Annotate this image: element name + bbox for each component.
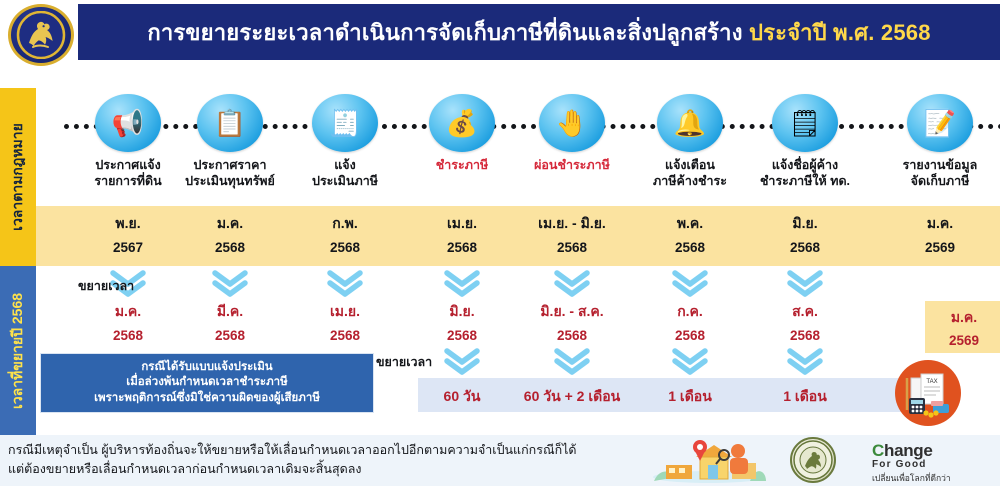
statutory-date-6: พ.ค.2568 — [630, 213, 750, 255]
timeline-step-label-line1: รายงานข้อมูล — [885, 158, 995, 174]
statutory-date-month: ม.ค. — [170, 213, 290, 235]
department-of-local-administration-seal — [790, 437, 836, 483]
extension-date-year: 2568 — [170, 328, 290, 343]
statutory-date-year: 2569 — [880, 240, 1000, 255]
extension-chevron-down-icon-7 — [786, 270, 824, 298]
extension-chevron-down-icon-4 — [443, 270, 481, 298]
tax-list-icon: 🗒 — [772, 94, 838, 152]
final-report-year: 2569 — [949, 333, 979, 348]
footer-note-bar: กรณีมีเหตุจำเป็น ผู้บริหารท้องถิ่นจะให้ข… — [0, 435, 1000, 486]
timeline-row: 📢ประกาศแจ้งรายการที่ดิน📋ประกาศราคาประเมิ… — [36, 88, 1000, 206]
timeline-step-8: 📝รายงานข้อมูลจัดเก็บภาษี — [885, 94, 995, 189]
timeline-step-label-line2: ภาษีค้างชำระ — [635, 174, 745, 190]
statutory-date-8: ม.ค.2569 — [880, 213, 1000, 255]
info-line-3: เพราะพฤติการณ์ซึ่งมิใช่ความผิดของผู้เสีย… — [94, 391, 320, 407]
extension-date-year: 2568 — [285, 328, 405, 343]
timeline-step-label: แจ้งชื่อผู้ค้างชำระภาษีให้ ทด. — [750, 158, 860, 189]
extension-date-month: ก.ค. — [630, 301, 750, 323]
statutory-date-3: ก.พ.2568 — [285, 213, 405, 255]
timeline-step-label-line2: ประเมินภาษี — [290, 174, 400, 190]
report-checklist-icon: 📝 — [907, 94, 973, 152]
statutory-date-month: เม.ย. - มิ.ย. — [512, 213, 632, 235]
thai-government-emblem — [8, 4, 74, 66]
duration-chevron-down-icon-5 — [553, 348, 591, 376]
statutory-date-year: 2568 — [512, 240, 632, 255]
statutory-date-year: 2568 — [745, 240, 865, 255]
footer-note-line-2: แต่ต้องขยายหรือเลื่อนกำหนดเวลาก่อนกำหนดเ… — [8, 460, 648, 479]
sidebar-label-normal-text: เวลาตามกฎหมาย — [7, 123, 29, 231]
page-title-main: การขยายระยะเวลาดำเนินการจัดเก็บภาษีที่ดิ… — [147, 20, 742, 45]
timeline-step-label-line2: รายการที่ดิน — [73, 174, 183, 190]
statutory-date-month: เม.ย. — [402, 213, 522, 235]
timeline-step-6: 🔔แจ้งเตือนภาษีค้างชำระ — [635, 94, 745, 189]
footer-note-line-1: กรณีมีเหตุจำเป็น ผู้บริหารท้องถิ่นจะให้ข… — [8, 441, 648, 460]
money-bag-hand-icon: 💰 — [429, 94, 495, 152]
info-line-2: เมื่อล่วงพ้นกำหนดเวลาชำระภาษี — [126, 375, 287, 391]
timeline-step-label-line2: ประเมินทุนทรัพย์ — [175, 174, 285, 190]
tax-documents-calculator-icon: TAX — [895, 360, 961, 426]
duration-chevron-down-icon-6 — [671, 348, 709, 376]
timeline-step-7: 🗒แจ้งชื่อผู้ค้างชำระภาษีให้ ทด. — [750, 94, 860, 189]
statutory-date-month: พ.ค. — [630, 213, 750, 235]
extension-date-2: มี.ค.2568 — [170, 301, 290, 343]
extension-chevron-down-icon-6 — [671, 270, 709, 298]
statutory-date-4: เม.ย.2568 — [402, 213, 522, 255]
page-title: การขยายระยะเวลาดำเนินการจัดเก็บภาษีที่ดิ… — [147, 15, 930, 50]
info-line-1: กรณีได้รับแบบแจ้งประเมิน — [141, 360, 272, 376]
statutory-date-month: มิ.ย. — [745, 213, 865, 235]
statutory-date-year: 2568 — [630, 240, 750, 255]
sidebar-label-extended-text: เวลาที่ขยายปี 2568 — [7, 292, 29, 408]
assessment-exception-info-box: กรณีได้รับแบบแจ้งประเมิน เมื่อล่วงพ้นกำห… — [40, 353, 374, 413]
timeline-step-label-line1: แจ้งชื่อผู้ค้าง — [750, 158, 860, 174]
timeline-step-1: 📢ประกาศแจ้งรายการที่ดิน — [73, 94, 183, 189]
house-search-illustration — [650, 437, 770, 484]
final-report-month: ม.ค. — [951, 307, 977, 329]
extension-date-year: 2568 — [630, 328, 750, 343]
duration-value-7: 1 เดือน — [735, 386, 875, 408]
timeline-step-5: 🤚ผ่อนชำระภาษี — [517, 94, 627, 174]
statutory-date-2: ม.ค.2568 — [170, 213, 290, 255]
brand-word-sub: For Good — [872, 459, 996, 470]
extension-date-6: ก.ค.2568 — [630, 301, 750, 343]
statutory-date-year: 2568 — [285, 240, 405, 255]
sidebar-label-extended-timeline: เวลาที่ขยายปี 2568 — [0, 266, 36, 435]
brand-word-rest: hange — [884, 441, 933, 460]
statutory-date-year: 2568 — [170, 240, 290, 255]
duration-chevron-down-icon-4 — [443, 348, 481, 376]
statutory-date-year: 2568 — [402, 240, 522, 255]
statutory-date-5: เม.ย. - มิ.ย.2568 — [512, 213, 632, 255]
timeline-step-label-line1: แจ้งเตือน — [635, 158, 745, 174]
timeline-step-label: ประกาศราคาประเมินทุนทรัพย์ — [175, 158, 285, 189]
extension-note-label-4: ขยายเวลา — [376, 352, 432, 372]
sidebar-label-normal-timeline: เวลาตามกฎหมาย — [0, 88, 36, 266]
timeline-step-label: แจ้งประเมินภาษี — [290, 158, 400, 189]
footer-note: กรณีมีเหตุจำเป็น ผู้บริหารท้องถิ่นจะให้ข… — [8, 441, 648, 480]
extension-date-month: มิ.ย. - ส.ค. — [512, 301, 632, 323]
extension-date-7: ส.ค.2568 — [745, 301, 865, 343]
extension-chevron-down-icon-2 — [211, 270, 249, 298]
extension-date-month: มี.ค. — [170, 301, 290, 323]
timeline-step-3: 🧾แจ้งประเมินภาษี — [290, 94, 400, 189]
megaphone-icon: 📢 — [95, 94, 161, 152]
extension-date-3: เม.ย.2568 — [285, 301, 405, 343]
brand-word-main: Change — [872, 442, 996, 459]
extension-chevron-down-icon-3 — [326, 270, 364, 298]
extension-date-month: มิ.ย. — [402, 301, 522, 323]
clipboard-person-icon: 📋 — [197, 94, 263, 152]
extension-date-5: มิ.ย. - ส.ค.2568 — [512, 301, 632, 343]
timeline-step-label-line1: ชำระภาษี — [407, 158, 517, 174]
extension-note-label-1: ขยายเวลา — [78, 276, 134, 296]
brand-initial: C — [872, 441, 884, 460]
timeline-step-2: 📋ประกาศราคาประเมินทุนทรัพย์ — [175, 94, 285, 189]
statutory-date-month: ม.ค. — [880, 213, 1000, 235]
timeline-step-label-line2: ชำระภาษีให้ ทด. — [750, 174, 860, 190]
extension-date-month: เม.ย. — [285, 301, 405, 323]
statutory-date-band: พ.ย.2567ม.ค.2568ก.พ.2568เม.ย.2568เม.ย. -… — [36, 206, 1000, 266]
timeline-step-label-line1: ผ่อนชำระภาษี — [517, 158, 627, 174]
final-report-date-box: ม.ค. 2569 — [925, 301, 1000, 353]
infographic-root: การขยายระยะเวลาดำเนินการจัดเก็บภาษีที่ดิ… — [0, 0, 1000, 486]
duration-chevron-down-icon-7 — [786, 348, 824, 376]
extension-date-year: 2568 — [512, 328, 632, 343]
timeline-step-label: ชำระภาษี — [407, 158, 517, 174]
timeline-step-label: รายงานข้อมูลจัดเก็บภาษี — [885, 158, 995, 189]
extension-date-4: มิ.ย.2568 — [402, 301, 522, 343]
extension-section: ม.ค.2568มี.ค.2568เม.ย.2568มิ.ย.2568มิ.ย.… — [36, 266, 1000, 435]
extension-date-month: ส.ค. — [745, 301, 865, 323]
statutory-date-month: ก.พ. — [285, 213, 405, 235]
coin-hand-icon: 🤚 — [539, 94, 605, 152]
extension-chevron-down-icon-5 — [553, 270, 591, 298]
extension-date-year: 2568 — [745, 328, 865, 343]
brand-tagline: เปลี่ยนเพื่อโลกที่ดีกว่า — [872, 471, 996, 485]
timeline-step-label: ผ่อนชำระภาษี — [517, 158, 627, 174]
tax-assessment-icon: 🧾 — [312, 94, 378, 152]
timeline-step-label: ประกาศแจ้งรายการที่ดิน — [73, 158, 183, 189]
page-title-highlight: ประจำปี พ.ศ. 2568 — [749, 20, 931, 45]
timeline-step-label-line1: แจ้ง — [290, 158, 400, 174]
timeline-step-label-line2: จัดเก็บภาษี — [885, 174, 995, 190]
timeline-step-label: แจ้งเตือนภาษีค้างชำระ — [635, 158, 745, 189]
timeline-step-label-line1: ประกาศแจ้ง — [73, 158, 183, 174]
timeline-step-label-line1: ประกาศราคา — [175, 158, 285, 174]
header-bar: การขยายระยะเวลาดำเนินการจัดเก็บภาษีที่ดิ… — [78, 4, 1000, 60]
timeline-step-4: 💰ชำระภาษี — [407, 94, 517, 174]
change-for-good-logo: Change For Good เปลี่ยนเพื่อโลกที่ดีกว่า — [872, 442, 996, 485]
extension-date-year: 2568 — [402, 328, 522, 343]
bell-alert-icon: 🔔 — [657, 94, 723, 152]
statutory-date-7: มิ.ย.2568 — [745, 213, 865, 255]
svg-text:TAX: TAX — [926, 379, 937, 385]
